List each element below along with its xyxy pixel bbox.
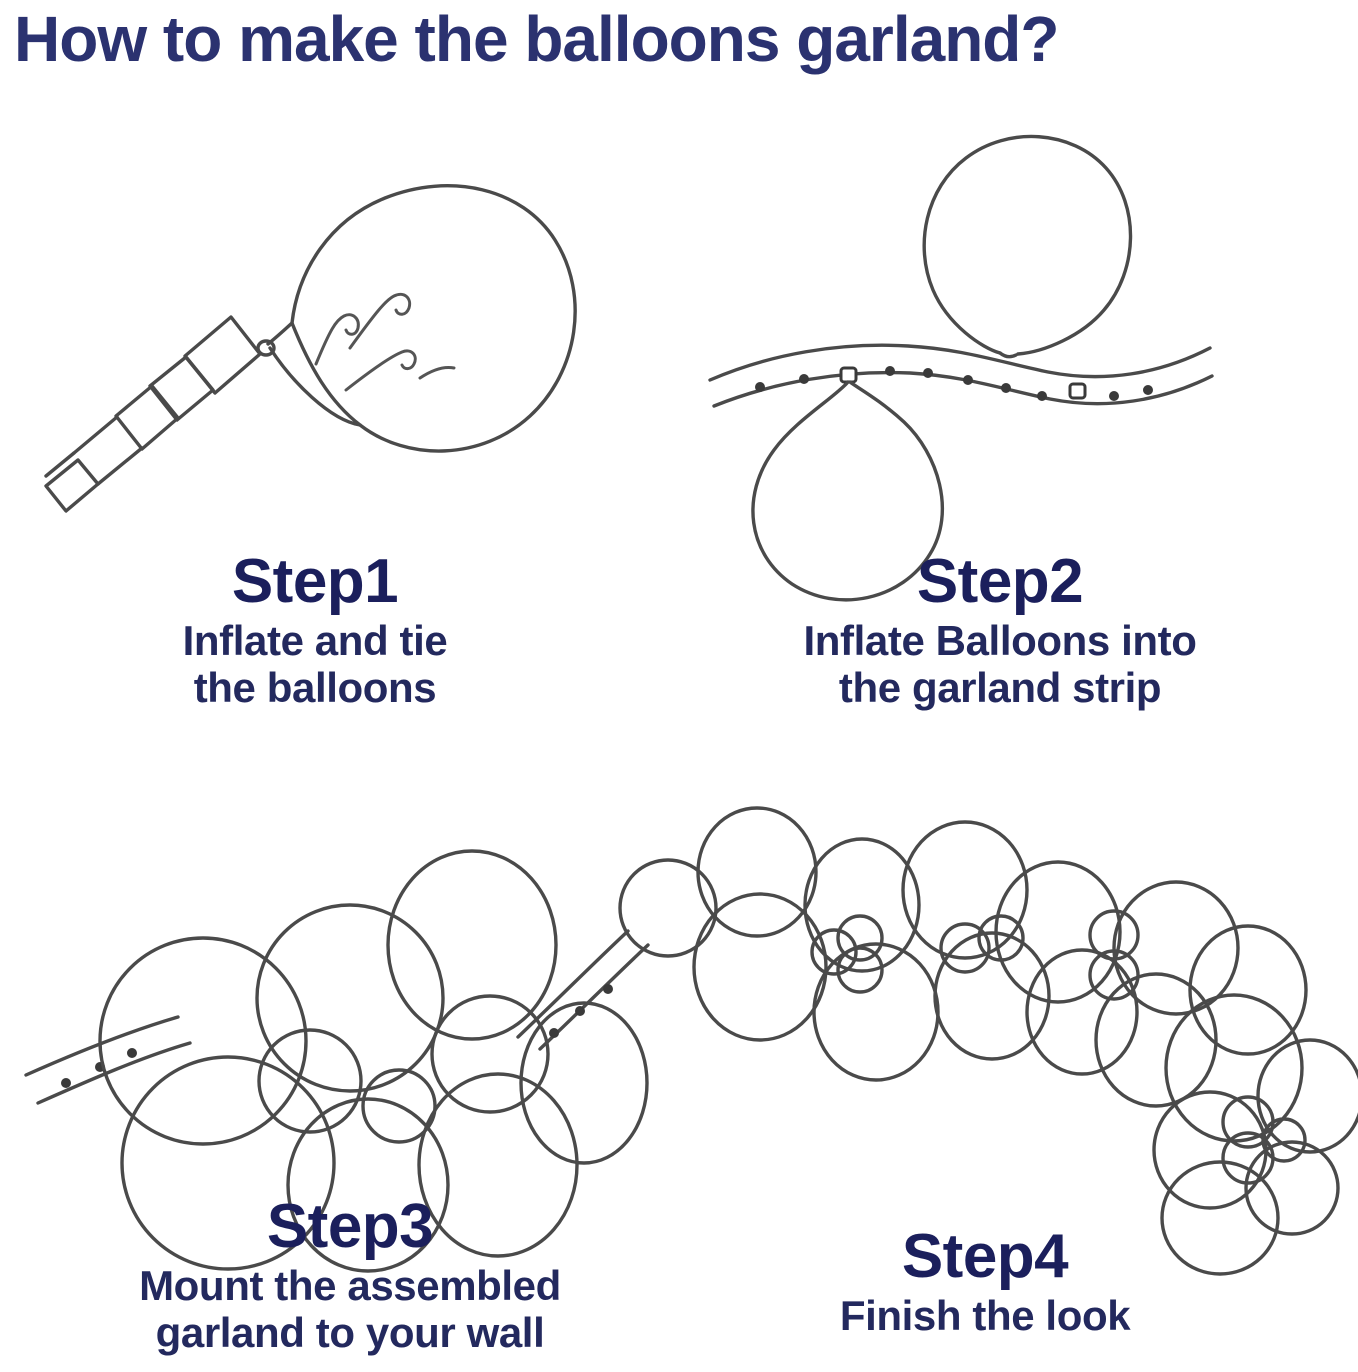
strip-right-top-edge	[518, 931, 628, 1037]
strip-hole	[575, 1006, 585, 1016]
air-swirl-3	[346, 351, 415, 390]
pump-collar	[116, 386, 178, 449]
strip-hole	[755, 382, 765, 392]
garland-balloon	[698, 808, 816, 936]
threaded-hole-lower-balloon	[841, 368, 856, 382]
step3-heading: Step3	[20, 1195, 680, 1258]
step4-heading: Step4	[620, 1225, 1350, 1288]
garland-balloon	[1096, 974, 1216, 1106]
balloon-upper-neck	[1000, 353, 1016, 357]
strip-hole	[603, 984, 613, 994]
garland-balloon	[1246, 1142, 1338, 1234]
strip-hole	[1037, 391, 1047, 401]
strip-hole	[963, 375, 973, 385]
balloon-large-left-upper	[100, 938, 306, 1144]
garland-balloon	[620, 860, 716, 956]
step-card-1: Step1 Inflate and tie the balloons	[30, 120, 600, 780]
step1-illustration	[30, 120, 600, 550]
garland-balloon	[1190, 926, 1306, 1054]
strip-hole	[61, 1078, 71, 1088]
step2-description: Inflate Balloons into the garland strip	[700, 617, 1300, 711]
page-title: How to make the balloons garland?	[14, 2, 1354, 76]
strip-hole	[885, 366, 895, 376]
strip-hole	[1143, 385, 1153, 395]
step-card-3: Step3 Mount the assembled garland to you…	[20, 745, 680, 1365]
garland-mini-balloon	[1263, 1119, 1305, 1161]
step4-illustration	[620, 800, 1350, 1220]
step2-desc-line1: Inflate Balloons into	[700, 617, 1300, 664]
pump-barrel-main	[185, 317, 260, 393]
air-swirl-1	[316, 315, 358, 364]
garland-balloon	[1027, 950, 1137, 1074]
garland-balloon	[814, 944, 938, 1080]
garland-balloon	[1258, 1040, 1358, 1152]
strip-hole	[923, 368, 933, 378]
step1-heading: Step1	[30, 550, 600, 613]
step1-description: Inflate and tie the balloons	[30, 617, 600, 711]
step3-desc-line1: Mount the assembled	[20, 1262, 680, 1309]
pump-shaft-upper	[98, 448, 142, 484]
step3-caption-block: Step3 Mount the assembled garland to you…	[20, 1195, 680, 1356]
pump-shaft-lower	[74, 417, 117, 453]
strip-hole	[127, 1048, 137, 1058]
infographic-page: How to make the balloons garland?	[0, 0, 1358, 1372]
step2-desc-line2: the garland strip	[700, 664, 1300, 711]
step1-desc-line1: Inflate and tie	[30, 617, 600, 664]
step3-description: Mount the assembled garland to your wall	[20, 1262, 680, 1356]
step-card-4: Step4 Finish the look	[620, 800, 1350, 1370]
strip-hole	[549, 1028, 559, 1038]
step3-illustration	[20, 745, 680, 1195]
step4-desc-line1: Finish the look	[620, 1292, 1350, 1339]
strip-hole	[1109, 391, 1119, 401]
strip-hole	[799, 374, 809, 384]
pump-barrel-mid	[150, 357, 213, 420]
balloon-neck	[268, 323, 292, 344]
step3-desc-line2: garland to your wall	[20, 1309, 680, 1356]
balloon-upper-body	[924, 136, 1130, 354]
garland-strip-top-edge	[710, 345, 1210, 380]
step2-illustration	[700, 110, 1300, 550]
strip-hole	[1001, 383, 1011, 393]
garland-strip-bottom-edge	[714, 373, 1212, 406]
step1-desc-line2: the balloons	[30, 664, 600, 711]
step2-caption-block: Step2 Inflate Balloons into the garland …	[700, 550, 1300, 711]
balloon-top-center	[257, 905, 443, 1091]
threaded-hole-upper-balloon	[1070, 384, 1085, 398]
step1-caption-block: Step1 Inflate and tie the balloons	[30, 550, 600, 711]
air-dash	[420, 367, 454, 378]
step4-caption-block: Step4 Finish the look	[620, 1225, 1350, 1339]
step4-description: Finish the look	[620, 1292, 1350, 1339]
step2-heading: Step2	[700, 550, 1300, 613]
balloon-body	[292, 186, 575, 451]
step-card-2: Step2 Inflate Balloons into the garland …	[700, 110, 1300, 780]
